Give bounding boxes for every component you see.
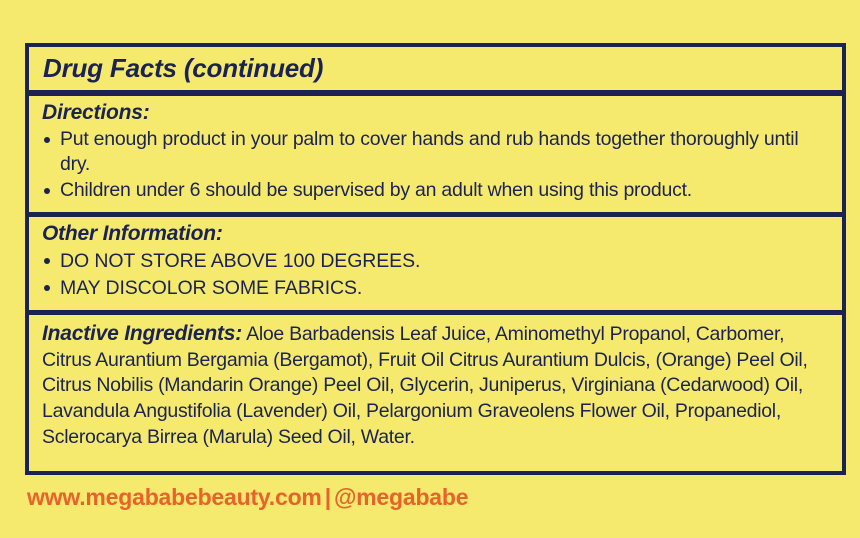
other-information-bullet-list: DO NOT STORE ABOVE 100 DEGREES. MAY DISC… bbox=[42, 248, 832, 303]
section-heading-directions: Directions: bbox=[42, 101, 832, 126]
page-title: Drug Facts (continued) bbox=[43, 53, 323, 84]
list-item-text: Put enough product in your palm to cover… bbox=[60, 128, 798, 175]
section-other-information: Other Information: DO NOT STORE ABOVE 10… bbox=[29, 217, 842, 316]
drug-facts-box: Drug Facts (continued) Directions: Put e… bbox=[25, 43, 846, 475]
list-item: Put enough product in your palm to cover… bbox=[42, 127, 832, 178]
section-heading-inactive-ingredients: Inactive Ingredients: bbox=[42, 322, 242, 345]
drug-facts-title-panel: Drug Facts (continued) bbox=[29, 47, 842, 96]
section-directions: Directions: Put enough product in your p… bbox=[29, 96, 842, 217]
list-item-text: DO NOT STORE ABOVE 100 DEGREES. bbox=[60, 250, 420, 272]
drug-facts-label: Drug Facts (continued) Directions: Put e… bbox=[0, 0, 860, 538]
bullet-dot-icon bbox=[44, 258, 50, 264]
list-item: MAY DISCOLOR SOME FABRICS. bbox=[42, 275, 832, 302]
social-handle[interactable]: @megababe bbox=[334, 484, 468, 510]
list-item-text: MAY DISCOLOR SOME FABRICS. bbox=[60, 277, 362, 299]
bullet-dot-icon bbox=[44, 188, 50, 194]
section-inactive-ingredients: Inactive Ingredients: Aloe Barbadensis L… bbox=[29, 315, 842, 457]
bullet-dot-icon bbox=[44, 285, 50, 291]
bullet-dot-icon bbox=[44, 137, 50, 143]
directions-bullet-list: Put enough product in your palm to cover… bbox=[42, 127, 832, 204]
list-item-text: Children under 6 should be supervised by… bbox=[60, 179, 692, 201]
list-item: DO NOT STORE ABOVE 100 DEGREES. bbox=[42, 248, 832, 275]
website-url[interactable]: www.megababebeauty.com bbox=[27, 484, 322, 510]
inactive-ingredients-paragraph: Inactive Ingredients: Aloe Barbadensis L… bbox=[42, 320, 832, 450]
list-item: Children under 6 should be supervised by… bbox=[42, 178, 832, 203]
brand-footer: www.megababebeauty.com|@megababe bbox=[27, 484, 468, 511]
section-heading-other-information: Other Information: bbox=[42, 222, 832, 247]
footer-separator: | bbox=[322, 484, 334, 510]
